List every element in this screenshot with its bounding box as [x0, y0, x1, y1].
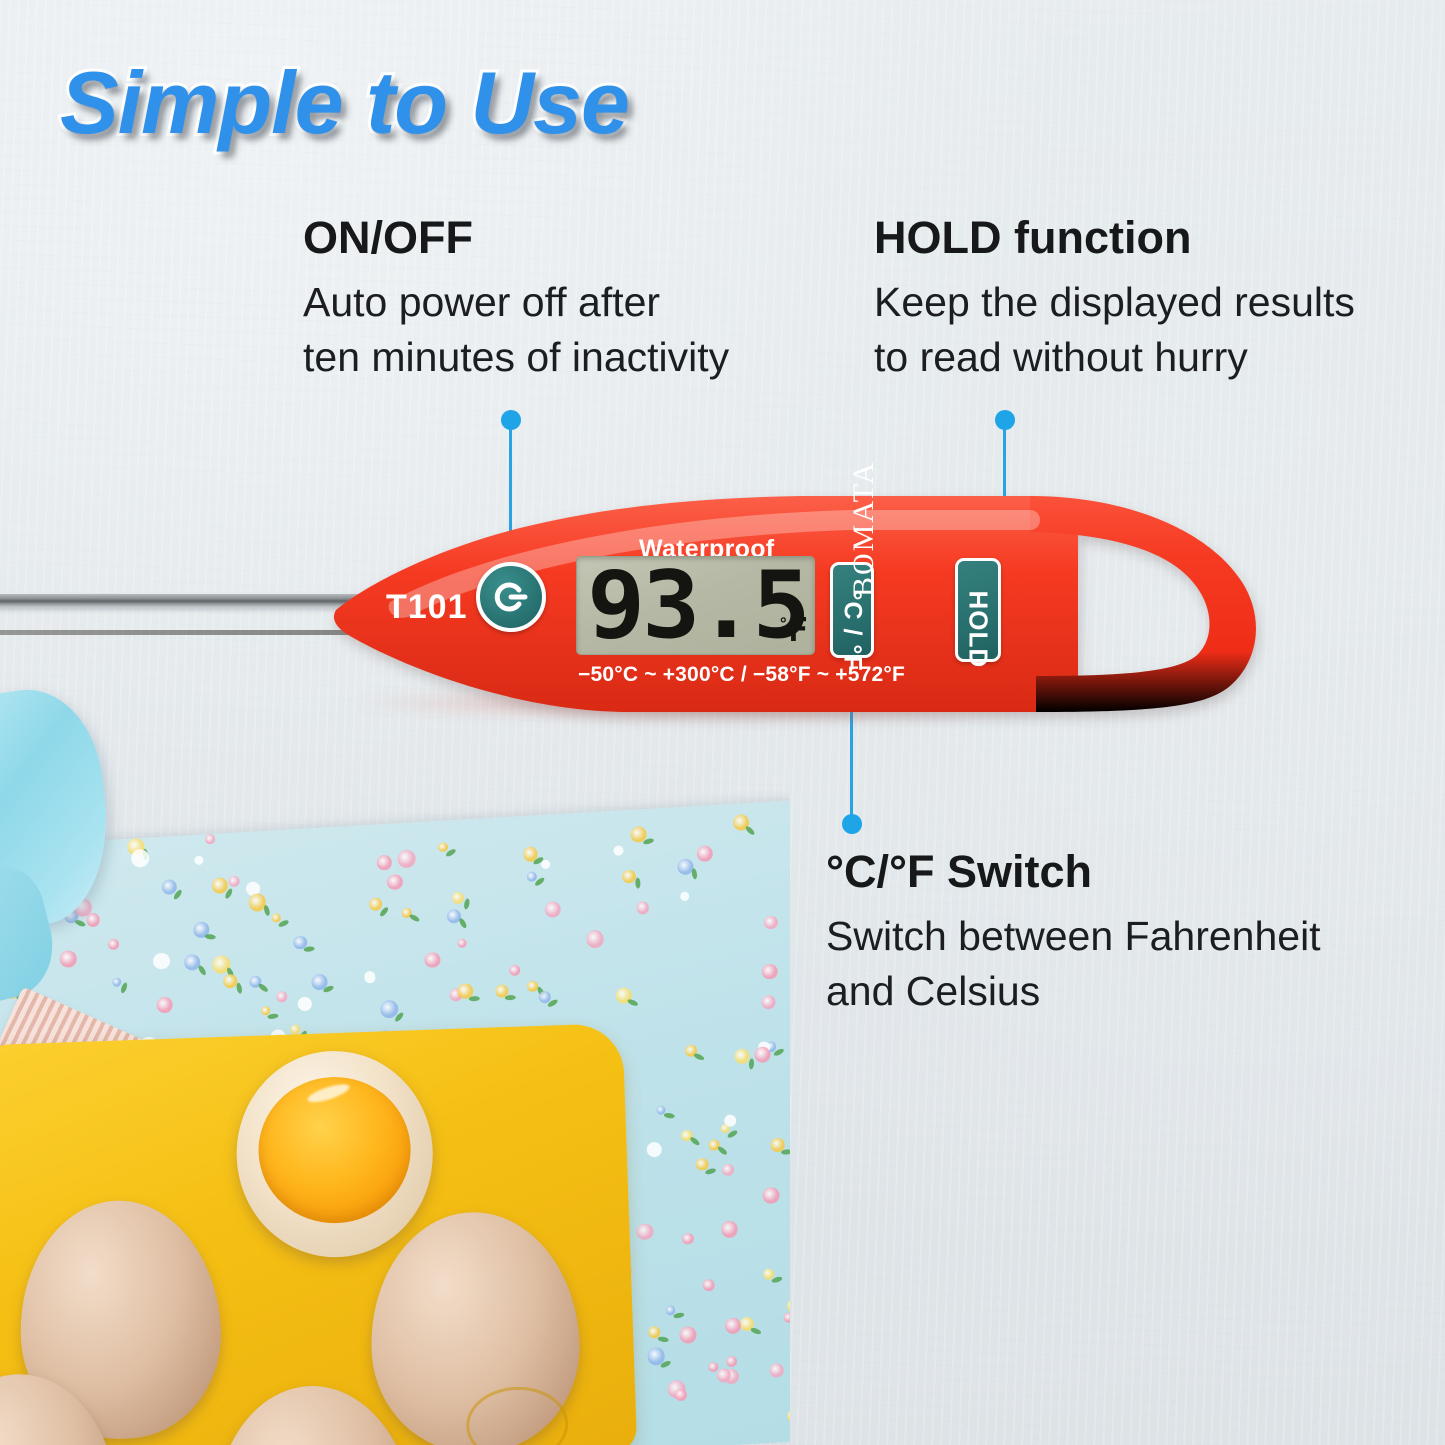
floral-print-leaf	[235, 982, 242, 994]
floral-print-motif	[636, 1223, 654, 1241]
floral-print-leaf	[635, 878, 640, 889]
floral-print-motif	[770, 1363, 784, 1377]
floral-print-motif	[762, 1187, 779, 1204]
callout-onoff-body: Auto power off after ten minutes of inac…	[303, 275, 729, 385]
floral-print-motif	[297, 997, 312, 1012]
floral-print-motif	[369, 898, 383, 912]
floral-print-leaf	[716, 1145, 728, 1156]
floral-print-motif	[696, 845, 713, 862]
floral-print-motif	[674, 1388, 687, 1401]
floral-print-motif	[59, 950, 77, 968]
floral-print-motif	[761, 995, 776, 1010]
cracked-egg	[233, 1048, 436, 1261]
floral-print-motif	[108, 939, 120, 951]
floral-print-leaf	[74, 919, 86, 928]
floral-print-motif	[387, 874, 404, 891]
callout-hold-body: Keep the displayed results to read witho…	[874, 275, 1355, 385]
floral-print-motif	[703, 1279, 716, 1292]
floral-print-motif	[680, 891, 690, 901]
floral-print-leaf	[692, 868, 699, 880]
floral-print-motif	[205, 834, 215, 844]
brand-label: BOMATA	[879, 535, 919, 685]
lcd-unit: °F	[778, 613, 808, 646]
floral-print-leaf	[750, 1327, 762, 1336]
brand-text: BOMATA	[847, 557, 881, 597]
floral-print-leaf	[258, 983, 270, 994]
unit-letter: F	[788, 610, 808, 649]
floral-print-motif	[194, 856, 204, 866]
page-title: Simple to Use	[60, 52, 629, 154]
floral-print-motif	[786, 1299, 790, 1313]
floral-print-motif	[734, 1048, 750, 1064]
floral-print-leaf	[197, 964, 207, 976]
callout-hold: HOLD function Keep the displayed results…	[874, 214, 1355, 385]
floral-print-leaf	[693, 1052, 705, 1061]
callout-cf-heading: °C/°F Switch	[826, 848, 1321, 895]
power-icon	[492, 578, 530, 616]
floral-print-motif	[787, 1409, 790, 1423]
floral-print-motif	[458, 938, 468, 948]
page-title-text: Simple to Use	[60, 53, 629, 152]
floral-print-motif	[762, 963, 778, 979]
floral-print-motif	[276, 991, 287, 1002]
leader-dot-onoff	[501, 410, 521, 430]
floral-print-motif	[682, 1233, 694, 1245]
hold-button[interactable]: HOLD	[955, 558, 1001, 662]
floral-print-leaf	[469, 996, 480, 1002]
infographic-canvas: Simple to Use ON/OFF Auto power off afte…	[0, 0, 1445, 1445]
egg-carton	[0, 1023, 637, 1445]
floral-print-motif	[679, 1326, 697, 1344]
lcd-display: 93.5 °F	[576, 556, 815, 655]
floral-print-motif	[754, 1046, 771, 1063]
floral-print-leaf	[657, 1336, 669, 1343]
floral-print-leaf	[748, 1058, 754, 1069]
floral-print-motif	[377, 855, 392, 870]
floral-print-motif	[424, 952, 441, 969]
floral-print-motif	[112, 977, 122, 987]
floral-print-leaf	[745, 825, 756, 836]
floral-print-leaf	[303, 946, 315, 952]
floral-print-leaf	[204, 934, 215, 940]
floral-print-motif	[153, 952, 170, 969]
hold-button-label: HOLD	[963, 591, 994, 631]
floral-print-motif	[764, 916, 778, 930]
floral-print-leaf	[408, 913, 420, 923]
floral-print-motif	[438, 842, 448, 852]
floral-print-motif	[156, 996, 173, 1013]
floral-print-leaf	[673, 1312, 685, 1319]
floral-print-motif	[724, 1115, 737, 1128]
callout-cf-body: Switch between Fahrenheit and Celsius	[826, 909, 1321, 1019]
floral-print-leaf	[463, 899, 470, 911]
floral-print-leaf	[505, 995, 516, 1001]
floral-print-motif	[784, 1313, 790, 1323]
callout-onoff: ON/OFF Auto power off after ten minutes …	[303, 214, 729, 385]
floral-print-motif	[726, 1356, 738, 1368]
lcd-reading: 93.5	[587, 556, 807, 655]
floral-print-motif	[509, 964, 521, 976]
floral-print-motif	[647, 1141, 663, 1157]
callout-hold-heading: HOLD function	[874, 214, 1355, 261]
floral-print-motif	[636, 901, 649, 914]
model-label: T101	[386, 588, 468, 627]
floral-print-motif	[622, 870, 636, 884]
floral-print-leaf	[458, 917, 468, 929]
floral-print-motif	[721, 1221, 738, 1238]
floral-print-leaf	[781, 1149, 790, 1155]
leader-dot-cf	[842, 814, 862, 834]
floral-print-motif	[229, 876, 241, 888]
callout-onoff-heading: ON/OFF	[303, 214, 729, 261]
floral-print-motif	[724, 1318, 741, 1335]
floral-print-leaf	[263, 904, 271, 916]
floral-print-motif	[364, 971, 376, 983]
floral-print-motif	[452, 892, 465, 905]
floral-print-leaf	[267, 1013, 279, 1020]
floral-print-motif	[613, 845, 623, 855]
floral-print-motif	[544, 901, 561, 918]
floral-print-leaf	[663, 1112, 675, 1118]
floral-print-motif	[586, 930, 605, 949]
floral-print-motif	[397, 850, 416, 869]
floral-print-motif	[541, 859, 551, 869]
power-button[interactable]	[476, 562, 546, 632]
degree-symbol: °	[778, 614, 788, 633]
floral-print-leaf	[627, 998, 639, 1007]
floral-print-leaf	[689, 1136, 701, 1147]
floral-print-motif	[722, 1164, 735, 1177]
leader-dot-hold	[995, 410, 1015, 430]
callout-cf-switch: °C/°F Switch Switch between Fahrenheit a…	[826, 848, 1321, 1019]
